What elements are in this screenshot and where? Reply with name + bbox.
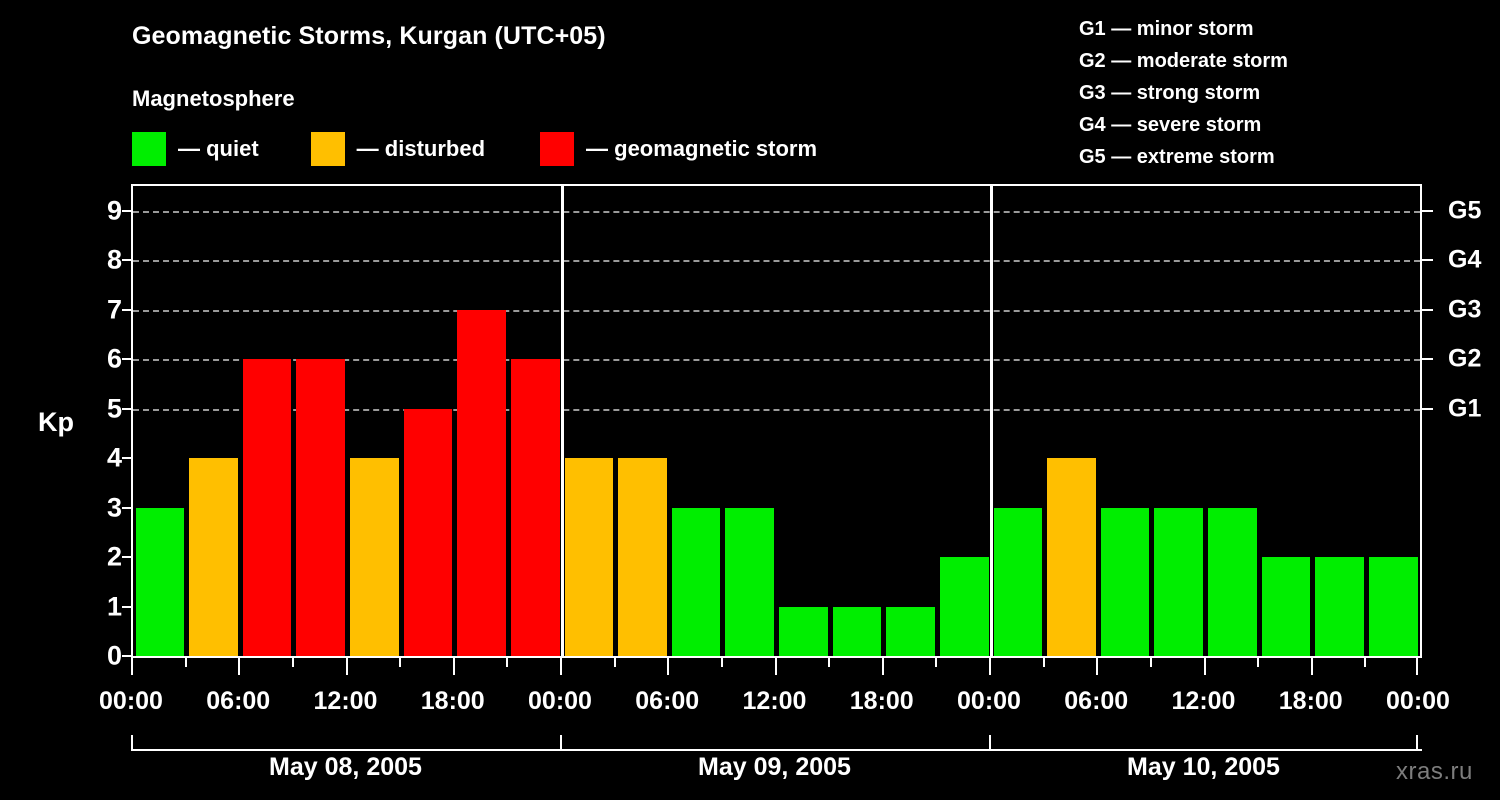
bar <box>565 458 614 656</box>
x-tick-label: 00:00 <box>99 688 163 714</box>
gscale-legend-line-1: G1 — minor storm <box>1079 13 1288 45</box>
legend-item-storm: — geomagnetic storm <box>540 132 817 166</box>
x-tick-minor <box>399 658 401 667</box>
x-tick-minor <box>935 658 937 667</box>
bar <box>833 607 882 656</box>
x-tick-minor <box>185 658 187 667</box>
legend-label-storm: — geomagnetic storm <box>586 136 817 162</box>
bar <box>1047 458 1096 656</box>
x-tick-major <box>667 658 669 675</box>
bar <box>940 557 989 656</box>
x-tick-major <box>346 658 348 675</box>
x-tick-label: 06:00 <box>1064 688 1128 714</box>
date-label-day-1: May 08, 2005 <box>269 753 422 782</box>
g-tick-mark-G3 <box>1422 309 1433 311</box>
g-scale-axis: G1G2G3G4G5 <box>1422 184 1500 656</box>
bar <box>296 359 345 656</box>
x-tick-major <box>1311 658 1313 675</box>
storm-swatch-icon <box>540 132 574 166</box>
x-tick-label: 12:00 <box>314 688 378 714</box>
magnetosphere-heading: Magnetosphere <box>132 86 295 112</box>
bar <box>350 458 399 656</box>
bar <box>994 508 1043 656</box>
x-tick-label: 00:00 <box>957 688 1021 714</box>
bar <box>672 508 721 656</box>
legend-item-quiet: — quiet <box>132 132 259 166</box>
x-tick-label: 00:00 <box>1386 688 1450 714</box>
x-tick-minor <box>506 658 508 667</box>
bars <box>133 186 1420 656</box>
x-tick-major <box>453 658 455 675</box>
x-tick-label: 12:00 <box>1172 688 1236 714</box>
bar <box>725 508 774 656</box>
day-separator-2 <box>990 186 993 656</box>
x-tick-major <box>238 658 240 675</box>
bar <box>243 359 292 656</box>
g-tick-mark-G2 <box>1422 358 1433 360</box>
x-tick-minor <box>1150 658 1152 667</box>
x-tick-label: 12:00 <box>743 688 807 714</box>
g-tick-label-G2: G2 <box>1448 347 1481 372</box>
g-tick-label-G4: G4 <box>1448 248 1481 273</box>
bar <box>511 359 560 656</box>
bar <box>189 458 238 656</box>
legend-item-disturbed: — disturbed <box>311 132 485 166</box>
page-title: Geomagnetic Storms, Kurgan (UTC+05) <box>132 22 606 51</box>
x-tick-label: 18:00 <box>421 688 485 714</box>
watermark: xras.ru <box>1396 758 1473 786</box>
bracket-line <box>131 749 1422 751</box>
g-tick-mark-G4 <box>1422 259 1433 261</box>
bracket-tick <box>989 735 991 751</box>
plot-inner <box>133 186 1420 656</box>
x-tick-major <box>882 658 884 675</box>
day-separator-1 <box>561 186 564 656</box>
bar <box>136 508 185 656</box>
x-tick-major <box>560 658 562 675</box>
bar <box>1101 508 1150 656</box>
bar <box>886 607 935 656</box>
bracket-tick <box>131 735 133 751</box>
x-tick-major <box>775 658 777 675</box>
date-labels: May 08, 2005May 09, 2005May 10, 2005 <box>131 753 1422 789</box>
bar <box>1369 557 1418 656</box>
x-tick-major <box>1416 658 1418 675</box>
date-brackets <box>131 735 1422 751</box>
gscale-legend-line-3: G3 — strong storm <box>1079 77 1288 109</box>
quiet-swatch-icon <box>132 132 166 166</box>
bar <box>618 458 667 656</box>
bar <box>1208 508 1257 656</box>
g-tick-label-G3: G3 <box>1448 297 1481 322</box>
x-tick-label: 00:00 <box>528 688 592 714</box>
x-tick-minor <box>1043 658 1045 667</box>
x-tick-label: 06:00 <box>206 688 270 714</box>
g-tick-label-G5: G5 <box>1448 198 1481 223</box>
x-tick-minor <box>1257 658 1259 667</box>
gscale-legend: G1 — minor stormG2 — moderate stormG3 — … <box>1079 13 1288 173</box>
x-tick-label: 18:00 <box>850 688 914 714</box>
x-tick-major <box>1096 658 1098 675</box>
bracket-tick <box>560 735 562 751</box>
bar <box>404 409 453 656</box>
x-tick-minor <box>1364 658 1366 667</box>
gscale-legend-line-4: G4 — severe storm <box>1079 109 1288 141</box>
x-tick-minor <box>614 658 616 667</box>
x-axis-tick-labels: 00:0006:0012:0018:0000:0006:0012:0018:00… <box>131 688 1422 722</box>
bar <box>1315 557 1364 656</box>
x-tick-major <box>989 658 991 675</box>
g-tick-mark-G5 <box>1422 210 1433 212</box>
date-label-day-3: May 10, 2005 <box>1127 753 1280 782</box>
bar <box>457 310 506 656</box>
x-tick-major <box>1204 658 1206 675</box>
bracket-tick <box>1416 735 1418 751</box>
bar <box>1154 508 1203 656</box>
x-tick-minor <box>721 658 723 667</box>
gscale-legend-line-2: G2 — moderate storm <box>1079 45 1288 77</box>
x-tick-minor <box>828 658 830 667</box>
x-axis-baseline <box>131 656 1422 658</box>
y-axis-ticks <box>0 184 140 656</box>
bar <box>1262 557 1311 656</box>
x-tick-minor <box>292 658 294 667</box>
date-label-day-2: May 09, 2005 <box>698 753 851 782</box>
geomagnetic-storm-chart: Geomagnetic Storms, Kurgan (UTC+05) Magn… <box>0 0 1500 800</box>
legend-label-quiet: — quiet <box>178 136 259 162</box>
disturbed-swatch-icon <box>311 132 345 166</box>
g-tick-mark-G1 <box>1422 408 1433 410</box>
bar <box>779 607 828 656</box>
x-axis <box>131 656 1422 686</box>
x-tick-label: 06:00 <box>635 688 699 714</box>
g-tick-label-G1: G1 <box>1448 396 1481 421</box>
gscale-legend-line-5: G5 — extreme storm <box>1079 141 1288 173</box>
legend-label-disturbed: — disturbed <box>357 136 485 162</box>
legend: — quiet — disturbed — geomagnetic storm <box>132 131 817 167</box>
x-tick-major <box>131 658 133 675</box>
plot-area <box>131 184 1422 656</box>
x-tick-label: 18:00 <box>1279 688 1343 714</box>
